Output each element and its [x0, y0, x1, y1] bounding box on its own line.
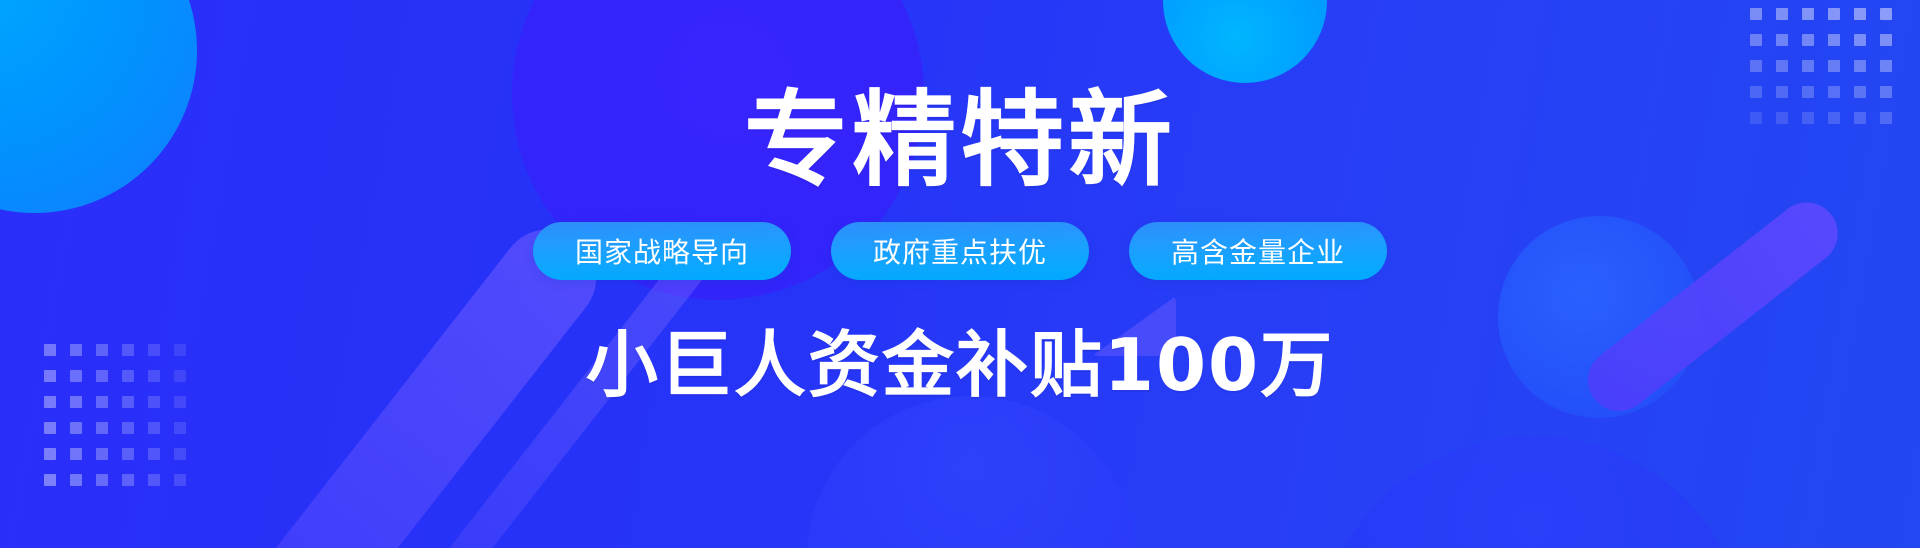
- tag-pill-label: 高含金量企业: [1171, 231, 1345, 271]
- tag-pill-national-strategy[interactable]: 国家战略导向: [533, 222, 791, 280]
- tag-pill-label: 政府重点扶优: [873, 231, 1047, 271]
- tag-list: 国家战略导向 政府重点扶优 高含金量企业: [533, 222, 1387, 280]
- tag-pill-high-value-enterprise[interactable]: 高含金量企业: [1129, 222, 1387, 280]
- promo-banner: 专精特新 国家战略导向 政府重点扶优 高含金量企业 小巨人资金补贴100万: [0, 0, 1920, 548]
- tag-pill-government-support[interactable]: 政府重点扶优: [831, 222, 1089, 280]
- tag-pill-label: 国家战略导向: [575, 231, 749, 271]
- banner-content: 专精特新 国家战略导向 政府重点扶优 高含金量企业 小巨人资金补贴100万: [0, 0, 1920, 548]
- subsidy-slogan: 小巨人资金补贴100万: [586, 306, 1334, 411]
- page-title: 专精特新: [744, 86, 1176, 194]
